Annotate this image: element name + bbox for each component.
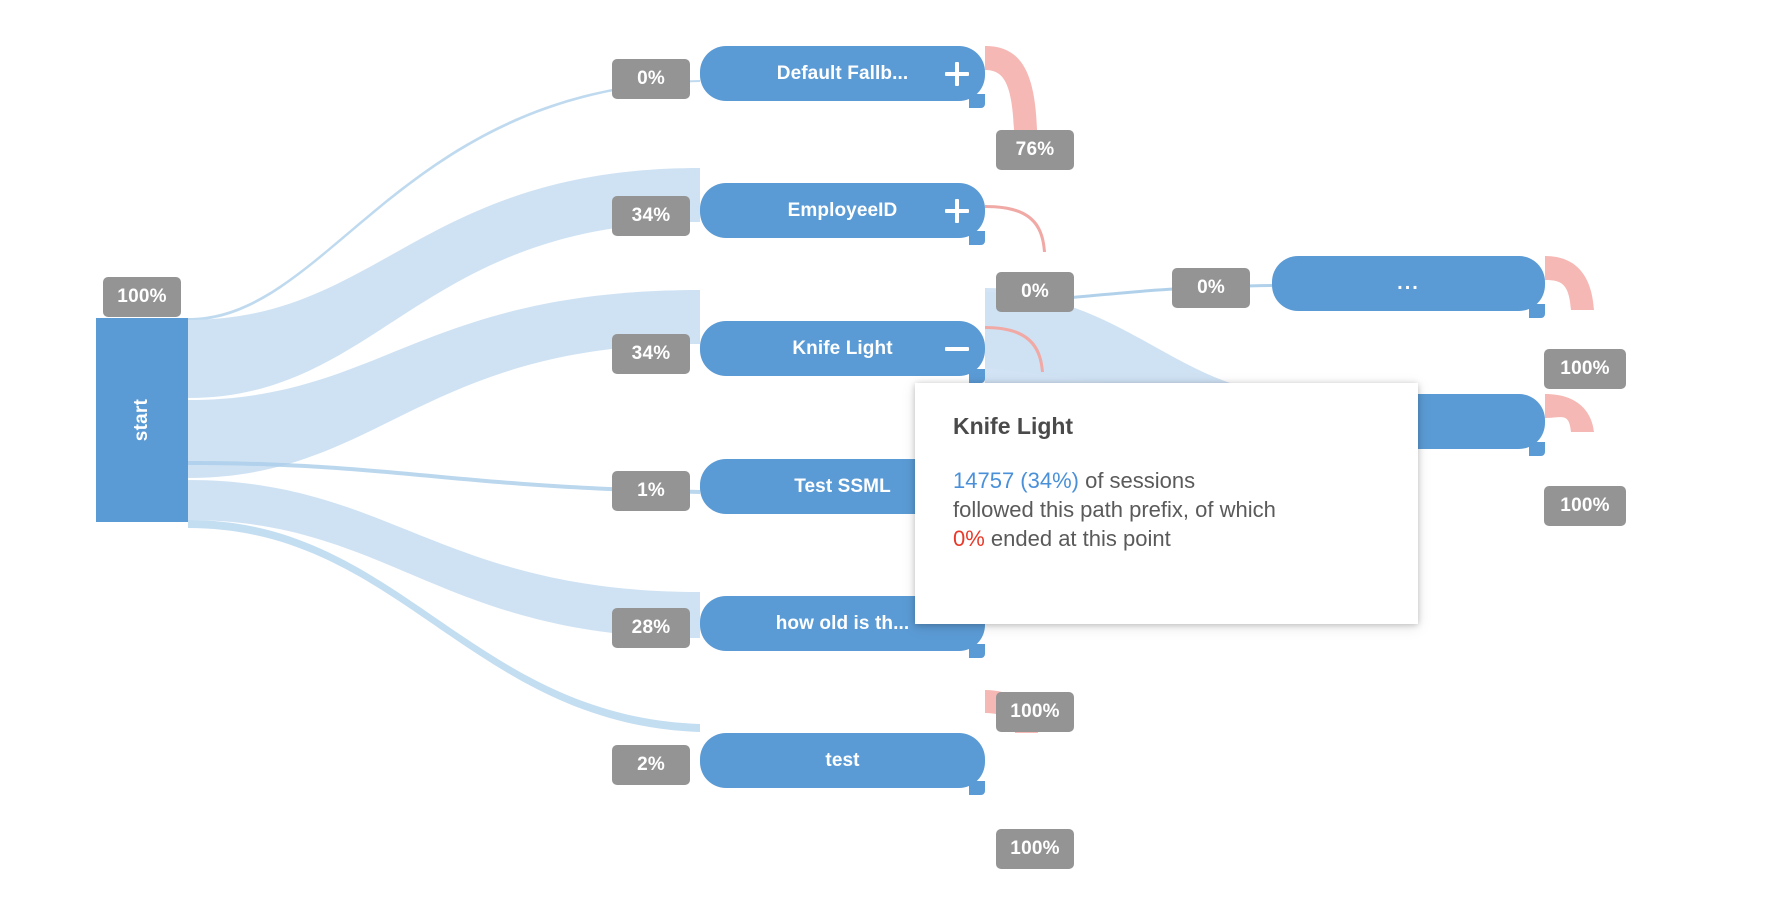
- badge-exit-more-top-label: 100%: [1560, 358, 1609, 380]
- badge-in-default-fallback[interactable]: 0%: [612, 59, 690, 99]
- start-node[interactable]: start: [96, 318, 188, 522]
- badge-in-how-old-label: 28%: [632, 617, 671, 639]
- node-test[interactable]: test: [700, 733, 985, 788]
- tooltip-line3-rest: ended at this point: [985, 526, 1171, 551]
- node-more-top-label: ...: [1397, 272, 1420, 295]
- exit-flow-employee-id: [985, 205, 1046, 252]
- node-employee-id[interactable]: EmployeeID: [700, 183, 985, 238]
- badge-exit-default-fallback-label: 76%: [1016, 139, 1055, 161]
- badge-in-knife-light-label: 34%: [632, 343, 671, 365]
- node-test-label: test: [825, 750, 859, 772]
- collapse-minus-icon-knife-light[interactable]: [943, 335, 971, 363]
- node-test-ssml-label: Test SSML: [794, 476, 891, 498]
- badge-exit-more-bottom-label: 100%: [1560, 495, 1609, 517]
- expand-plus-icon-default-fallback[interactable]: [943, 60, 971, 88]
- tooltip-line1-rest: of sessions: [1079, 468, 1195, 493]
- badge-in-test[interactable]: 2%: [612, 745, 690, 785]
- badge-exit-how-old[interactable]: 100%: [996, 692, 1074, 732]
- node-knife-light[interactable]: Knife Light: [700, 321, 985, 376]
- badge-exit-more-top[interactable]: 100%: [1544, 349, 1626, 389]
- tooltip-line2: followed this path prefix, of which: [953, 497, 1276, 522]
- badge-in-more-top[interactable]: 0%: [1172, 268, 1250, 308]
- sankey-diagram-canvas: 100% start 0% Default Fallb... 76% 34% E…: [0, 0, 1776, 906]
- node-knife-light-label: Knife Light: [792, 338, 892, 360]
- badge-exit-employee-id[interactable]: 0%: [996, 272, 1074, 312]
- badge-in-employee-id[interactable]: 34%: [612, 196, 690, 236]
- badge-in-test-ssml[interactable]: 1%: [612, 471, 690, 511]
- start-percent-label: 100%: [117, 286, 166, 308]
- node-how-old-label: how old is th...: [776, 613, 910, 635]
- node-tooltip: Knife Light 14757 (34%) of sessions foll…: [915, 383, 1418, 624]
- tooltip-session-count: 14757 (34%): [953, 468, 1079, 493]
- badge-in-test-ssml-label: 1%: [637, 480, 665, 502]
- badge-in-how-old[interactable]: 28%: [612, 608, 690, 648]
- badge-exit-test[interactable]: 100%: [996, 829, 1074, 869]
- badge-exit-more-bottom[interactable]: 100%: [1544, 486, 1626, 526]
- node-default-fallback-label: Default Fallb...: [777, 63, 908, 85]
- badge-exit-test-label: 100%: [1010, 838, 1059, 860]
- node-default-fallback[interactable]: Default Fallb...: [700, 46, 985, 101]
- exit-flow-more-top: [1545, 256, 1594, 310]
- start-node-label: start: [131, 399, 153, 441]
- exit-flow-more-bottom: [1545, 394, 1594, 432]
- badge-in-more-top-label: 0%: [1197, 277, 1225, 299]
- badge-exit-how-old-label: 100%: [1010, 701, 1059, 723]
- tooltip-body: 14757 (34%) of sessions followed this pa…: [953, 466, 1384, 553]
- badge-in-knife-light[interactable]: 34%: [612, 334, 690, 374]
- badge-in-default-fallback-label: 0%: [637, 68, 665, 90]
- exit-flow-default-fallback: [985, 46, 1037, 130]
- node-employee-id-label: EmployeeID: [788, 200, 898, 222]
- badge-in-employee-id-label: 34%: [632, 205, 671, 227]
- node-more-top[interactable]: ...: [1272, 256, 1545, 311]
- badge-exit-employee-id-label: 0%: [1021, 281, 1049, 303]
- start-percent-badge[interactable]: 100%: [103, 277, 181, 317]
- tooltip-exit-percent: 0%: [953, 526, 985, 551]
- badge-exit-default-fallback[interactable]: 76%: [996, 130, 1074, 170]
- tooltip-title: Knife Light: [953, 413, 1384, 440]
- badge-in-test-label: 2%: [637, 754, 665, 776]
- expand-plus-icon-employee-id[interactable]: [943, 197, 971, 225]
